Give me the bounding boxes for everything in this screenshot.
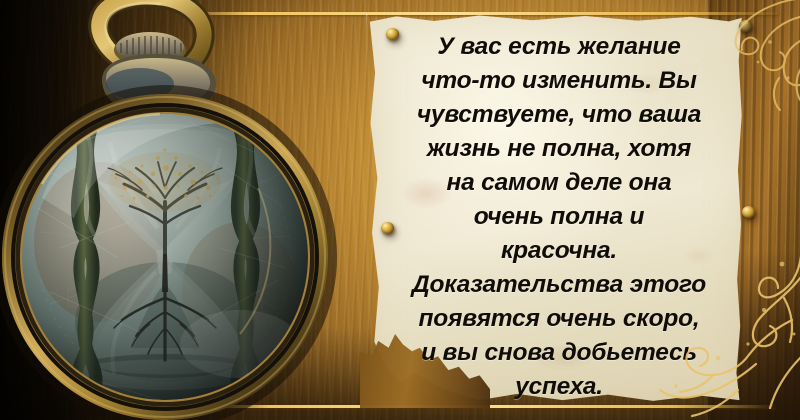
quote-line: очень полна и: [398, 200, 720, 234]
quote-line: успеха.: [398, 370, 720, 404]
tack-right-middle: [742, 206, 755, 218]
quote-text: У вас есть желание что-то изменить. Вы ч…: [398, 30, 720, 404]
quote-line: жизнь не полна, хотя: [398, 132, 720, 166]
quote-line: красочна.: [398, 234, 720, 268]
quote-line: что-то изменить. Вы: [398, 64, 720, 98]
pocket-watch-illustration: [0, 0, 370, 420]
vintage-pocket-watch: [0, 0, 370, 420]
quote-line: У вас есть желание: [398, 30, 720, 64]
quote-line: на самом деле она: [398, 166, 720, 200]
quote-line: появятся очень скоро,: [398, 302, 720, 336]
tack-left-middle: [381, 222, 394, 234]
tack-right-upper: [739, 20, 752, 32]
quote-line: чувствуете, что ваша: [398, 98, 720, 132]
quote-line: и вы снова добьетесь: [398, 336, 720, 370]
quote-card: У вас есть желание что-то изменить. Вы ч…: [0, 0, 800, 420]
quote-line: Доказательства этого: [398, 268, 720, 302]
